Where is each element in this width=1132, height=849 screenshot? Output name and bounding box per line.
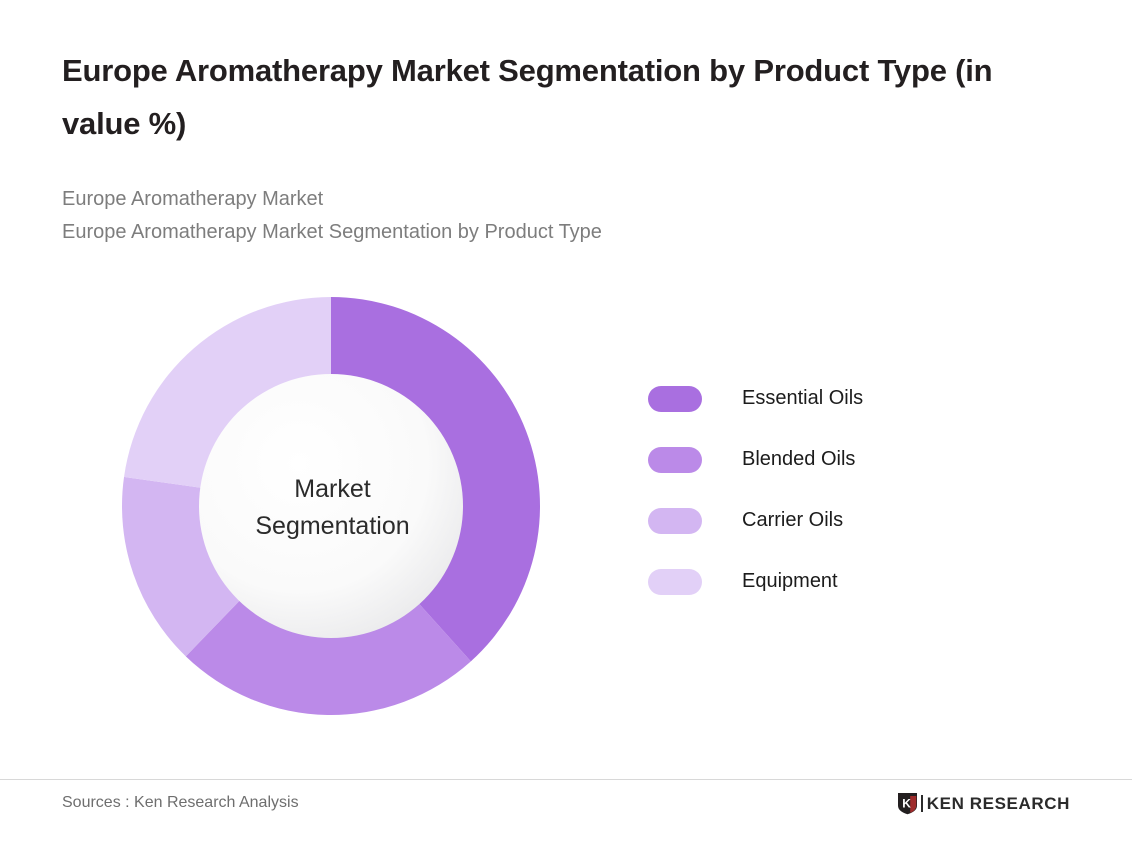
subtitle-line-1: Europe Aromatherapy Market	[62, 183, 962, 216]
legend-label: Equipment	[742, 570, 838, 593]
legend-item[interactable]: Carrier Oils	[648, 490, 978, 551]
chart-legend: Essential OilsBlended OilsCarrier OilsEq…	[648, 368, 978, 612]
legend-label: Blended Oils	[742, 448, 855, 471]
donut-hole	[199, 374, 463, 638]
logo-letter: K	[902, 796, 911, 810]
legend-label: Essential Oils	[742, 387, 863, 410]
sources-note: Sources : Ken Research Analysis	[62, 794, 299, 812]
shield-icon: K	[897, 792, 918, 815]
legend-item[interactable]: Blended Oils	[648, 429, 978, 490]
legend-item[interactable]: Equipment	[648, 551, 978, 612]
legend-swatch	[648, 447, 702, 473]
legend-item[interactable]: Essential Oils	[648, 368, 978, 429]
subtitle-line-2: Europe Aromatherapy Market Segmentation …	[62, 216, 962, 249]
legend-label: Carrier Oils	[742, 509, 843, 532]
legend-swatch	[648, 569, 702, 595]
legend-swatch	[648, 508, 702, 534]
donut-chart-svg	[110, 285, 555, 730]
donut-chart: Market Segmentation	[110, 285, 555, 730]
legend-swatch	[648, 386, 702, 412]
logo-divider	[921, 795, 923, 812]
page-subtitle: Europe Aromatherapy Market Europe Aromat…	[62, 183, 962, 249]
logo-wordmark: KEN RESEARCH	[927, 795, 1070, 812]
chart-page: Europe Aromatherapy Market Segmentation …	[0, 0, 1132, 849]
ken-research-logo: K KEN RESEARCH	[897, 791, 1070, 815]
footer-divider	[0, 779, 1132, 780]
page-title: Europe Aromatherapy Market Segmentation …	[62, 44, 1062, 151]
